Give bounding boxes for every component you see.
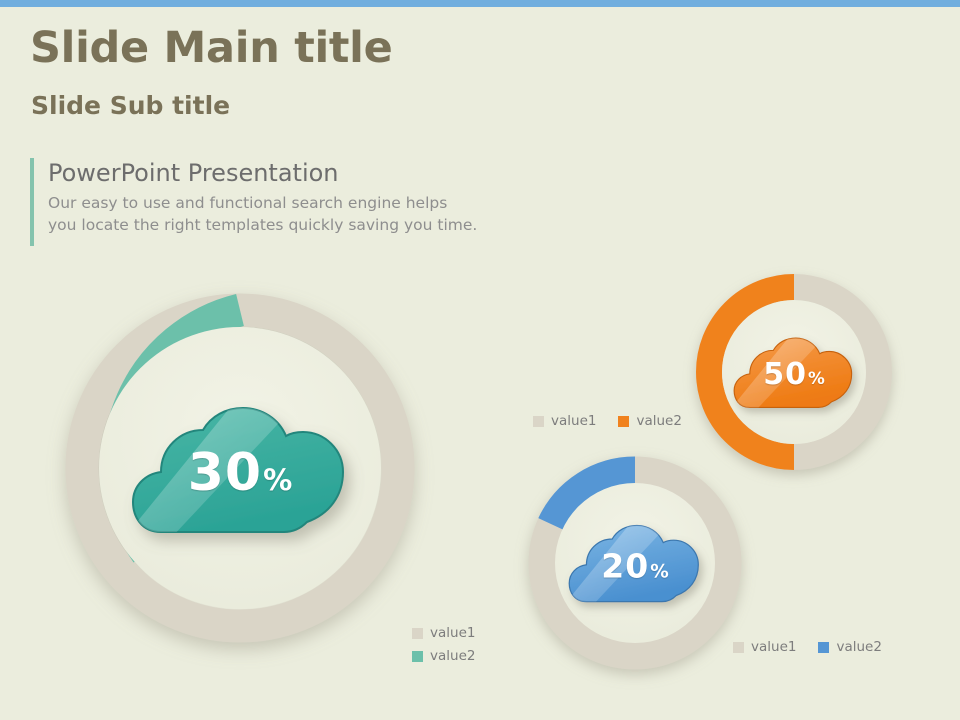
- green-donut-svg: [40, 268, 440, 668]
- page-subtitle: Slide Sub title: [31, 93, 230, 119]
- legend-swatch-value1: [533, 416, 544, 427]
- legend-item[interactable]: value1: [533, 415, 596, 429]
- legend-label: value1: [751, 641, 796, 655]
- body-text-block: PowerPoint Presentation Our easy to use …: [30, 158, 477, 246]
- legend-swatch-value2: [412, 651, 423, 662]
- chart-green-donut[interactable]: 30%: [40, 268, 440, 668]
- legend-item[interactable]: value1: [733, 641, 796, 655]
- legend-item[interactable]: value1: [412, 627, 475, 641]
- legend-item[interactable]: value2: [818, 641, 881, 655]
- legend-blue-donut: value1 value2: [733, 641, 882, 655]
- legend-swatch-value2: [818, 642, 829, 653]
- legend-label: value1: [551, 415, 596, 429]
- legend-label: value2: [836, 641, 881, 655]
- top-accent-bar: [0, 0, 960, 7]
- orange-donut-inner-dish: [722, 300, 866, 444]
- legend-label: value2: [636, 415, 681, 429]
- green-donut-inner-dish: [99, 327, 381, 609]
- legend-swatch-value1: [733, 642, 744, 653]
- legend-item[interactable]: value2: [618, 415, 681, 429]
- blue-donut-svg: [519, 447, 751, 679]
- legend-swatch-value2: [618, 416, 629, 427]
- legend-label: value1: [430, 627, 475, 641]
- slide-canvas: Slide Main title Slide Sub title PowerPo…: [0, 0, 960, 720]
- body-paragraph: Our easy to use and functional search en…: [48, 192, 477, 236]
- blue-donut-inner-dish: [555, 483, 715, 643]
- page-title: Slide Main title: [30, 26, 392, 71]
- legend-green-donut: value1 value2: [412, 627, 475, 672]
- legend-label: value2: [430, 650, 475, 664]
- legend-orange-donut: value1 value2: [533, 415, 682, 429]
- legend-swatch-value1: [412, 628, 423, 639]
- body-heading: PowerPoint Presentation: [48, 158, 477, 188]
- chart-blue-donut[interactable]: 20%: [519, 447, 751, 679]
- legend-item[interactable]: value2: [412, 650, 475, 664]
